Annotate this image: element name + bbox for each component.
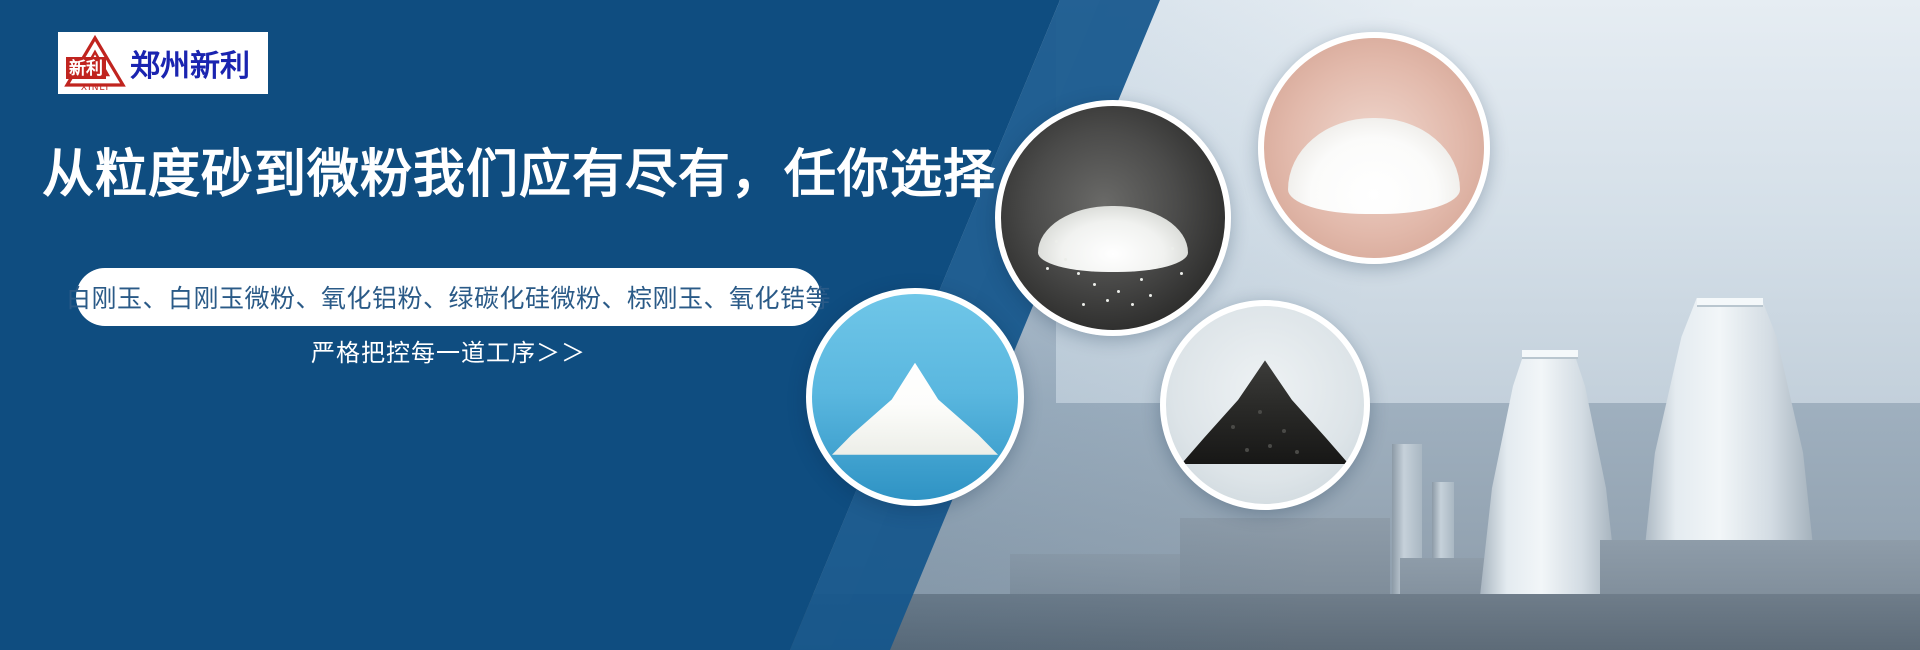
headline: 从粒度砂到微粉我们应有尽有，任你选择	[42, 144, 996, 206]
product-list-pill: 白刚玉、白刚玉微粉、氧化铝粉、绿碳化硅微粉、棕刚玉、氧化锆等	[76, 268, 821, 326]
cta-label: 严格把控每一道工序＞＞	[311, 333, 586, 368]
svg-text:新利: 新利	[69, 58, 103, 79]
cta-link[interactable]: 严格把控每一道工序＞＞	[276, 328, 621, 372]
powder-cone	[832, 363, 998, 455]
grit-cone	[1181, 360, 1349, 464]
triangle-mountain-logo-icon: 新利 XINLI	[64, 35, 126, 91]
grain-specks	[1001, 106, 1225, 330]
company-name-label: 郑州新利	[130, 41, 250, 85]
product-image-white-powder-heap	[806, 288, 1024, 506]
product-list-label: 白刚玉、白刚玉微粉、氧化铝粉、绿碳化硅微粉、棕刚玉、氧化锆等	[66, 279, 831, 315]
svg-text:XINLI: XINLI	[81, 83, 109, 91]
product-image-black-silicon-carbide	[1160, 300, 1370, 510]
product-image-white-fine-powder	[1258, 32, 1490, 264]
promo-banner: 新利 XINLI 郑州新利 从粒度砂到微粉我们应有尽有，任你选择 白刚玉、白刚玉…	[0, 0, 1920, 650]
company-logo[interactable]: 新利 XINLI 郑州新利	[58, 32, 268, 94]
powder-heap	[1288, 118, 1460, 214]
product-image-white-abrasive-grains	[995, 100, 1231, 336]
